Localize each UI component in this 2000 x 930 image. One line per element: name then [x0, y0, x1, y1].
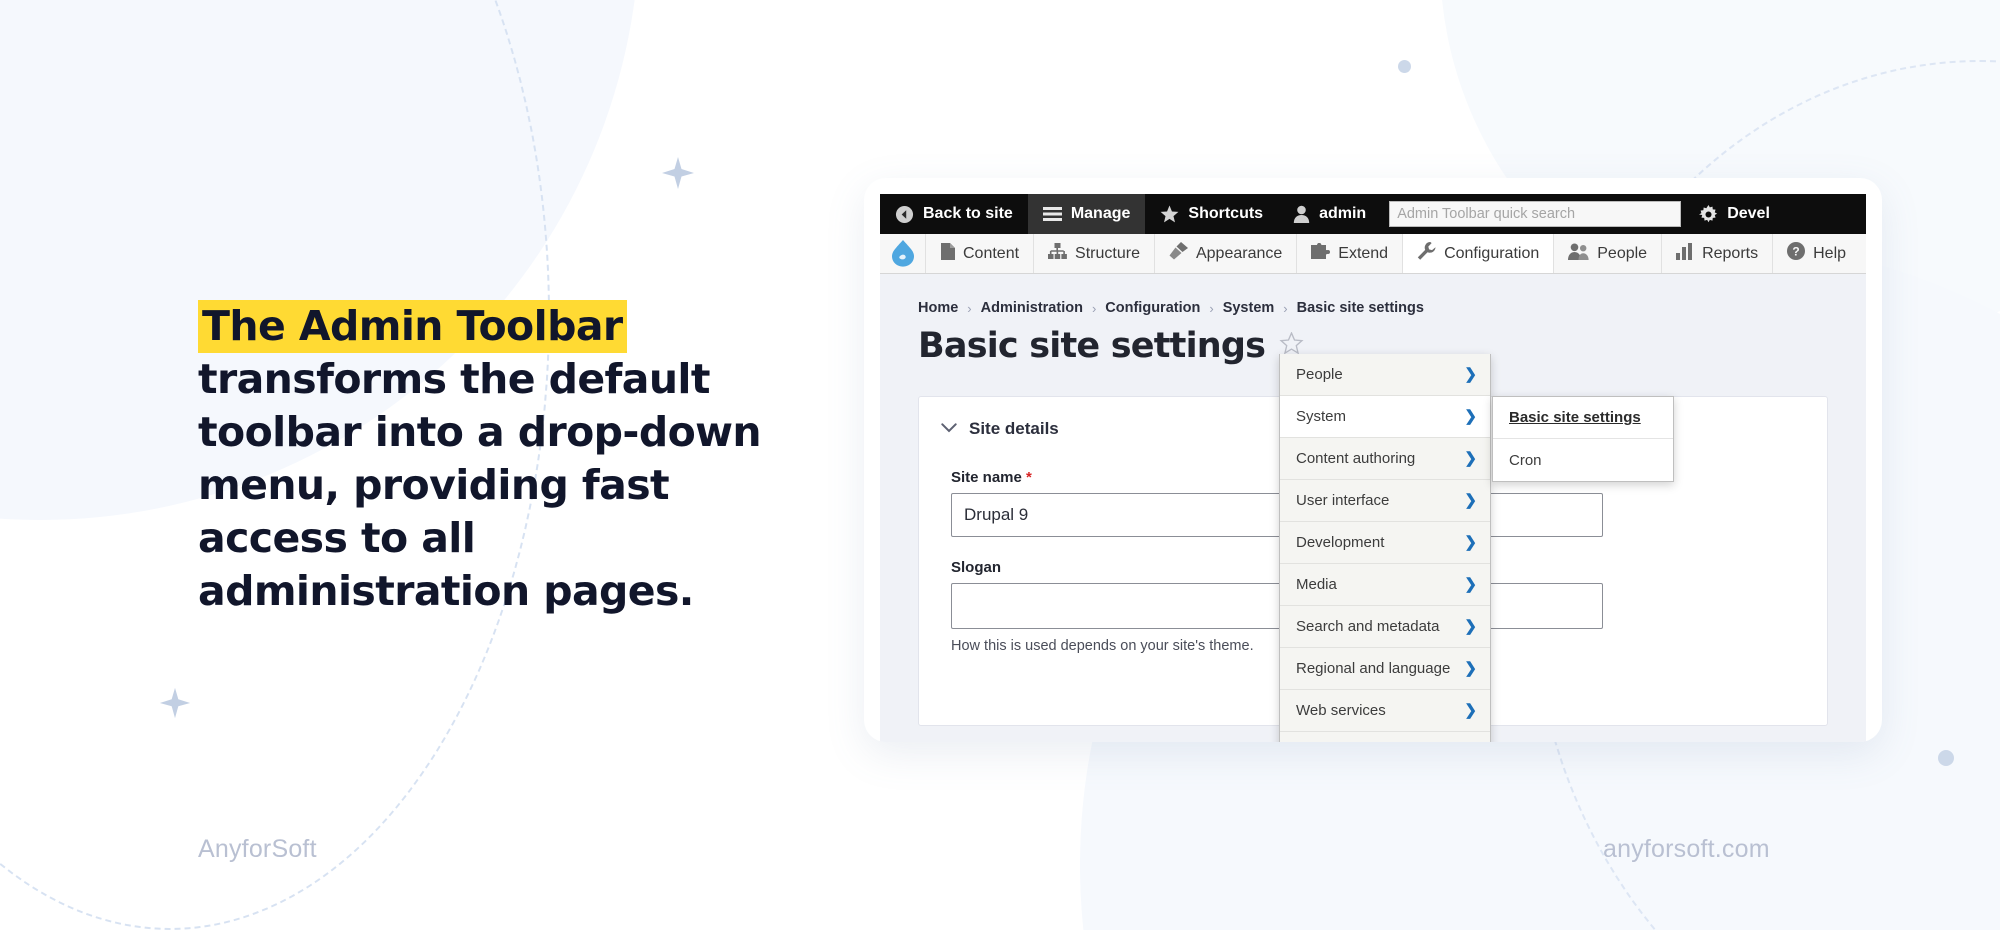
- dropdown-item-development[interactable]: Development ❯: [1280, 522, 1490, 564]
- decorative-dot-top: [1398, 60, 1411, 73]
- breadcrumb-item-basic-site-settings[interactable]: Basic site settings: [1297, 300, 1424, 316]
- brand-name: AnyforSoft: [198, 835, 317, 864]
- quick-search-container: [1381, 194, 1681, 234]
- sparkle-icon: [158, 686, 192, 720]
- menu-item-extend-label: Extend: [1338, 245, 1388, 263]
- back-arrow-icon: [895, 205, 914, 224]
- toolbar-devel[interactable]: Devel: [1681, 194, 1785, 234]
- appearance-brush-icon: [1169, 242, 1188, 265]
- chevron-right-icon: ❯: [1464, 409, 1477, 424]
- menu-item-structure-label: Structure: [1075, 245, 1140, 263]
- menu-item-configuration-label: Configuration: [1444, 245, 1539, 263]
- breadcrumb: Home › Administration › Configuration › …: [918, 300, 1828, 316]
- dropdown-item-web-services-label: Web services: [1296, 702, 1386, 719]
- dropdown-item-people[interactable]: People ❯: [1280, 354, 1490, 396]
- toolbar-spacer: [1785, 194, 1866, 234]
- extend-puzzle-icon: [1311, 243, 1330, 265]
- chevron-right-icon: ❯: [1464, 451, 1477, 466]
- reports-bars-icon: [1676, 243, 1694, 265]
- required-marker: *: [1026, 469, 1032, 486]
- toolbar-devel-label: Devel: [1727, 205, 1770, 223]
- dropdown-item-people-label: People: [1296, 366, 1343, 383]
- toolbar-shortcuts[interactable]: Shortcuts: [1145, 194, 1278, 234]
- menu-item-content[interactable]: Content: [926, 234, 1034, 273]
- page-title: Basic site settings: [918, 326, 1265, 366]
- site-details-legend: Site details: [969, 419, 1059, 439]
- dropdown-item-regional-and-language[interactable]: Regional and language ❯: [1280, 648, 1490, 690]
- submenu-item-cron-label: Cron: [1509, 452, 1542, 469]
- toolbar-manage[interactable]: Manage: [1028, 194, 1146, 234]
- dropdown-item-user-interface-label: User interface: [1296, 492, 1389, 509]
- menu-item-content-label: Content: [963, 245, 1019, 263]
- svg-text:?: ?: [1792, 244, 1799, 258]
- dropdown-item-media-label: Media: [1296, 576, 1337, 593]
- headline-highlight: The Admin Toolbar: [198, 300, 627, 353]
- submenu-item-cron[interactable]: Cron: [1493, 439, 1673, 481]
- sparkle-icon: [660, 155, 696, 191]
- dropdown-item-media[interactable]: Media ❯: [1280, 564, 1490, 606]
- content-page-icon: [940, 243, 955, 265]
- chevron-down-icon: [941, 419, 957, 439]
- breadcrumb-separator: ›: [967, 301, 971, 316]
- chevron-right-icon: ❯: [1464, 661, 1477, 676]
- breadcrumb-item-system[interactable]: System: [1223, 300, 1275, 316]
- chevron-right-icon: ❯: [1464, 619, 1477, 634]
- slogan-input[interactable]: [951, 583, 1603, 629]
- dropdown-item-system[interactable]: System ❯ Basic site settings Cron: [1280, 396, 1490, 438]
- menu-item-structure[interactable]: Structure: [1034, 234, 1155, 273]
- toolbar-back-to-site-label: Back to site: [923, 205, 1013, 223]
- toolbar-shortcuts-label: Shortcuts: [1188, 205, 1263, 223]
- toolbar-back-to-site[interactable]: Back to site: [880, 194, 1028, 234]
- breadcrumb-item-administration[interactable]: Administration: [981, 300, 1083, 316]
- chevron-right-icon: ❯: [1464, 493, 1477, 508]
- breadcrumb-item-configuration[interactable]: Configuration: [1105, 300, 1200, 316]
- site-name-label-text: Site name: [951, 469, 1022, 486]
- system-submenu: Basic site settings Cron: [1492, 396, 1674, 482]
- star-icon: [1160, 205, 1179, 223]
- user-icon: [1293, 205, 1310, 223]
- dropdown-item-content-authoring[interactable]: Content authoring ❯: [1280, 438, 1490, 480]
- dropdown-item-web-services[interactable]: Web services ❯: [1280, 690, 1490, 732]
- menu-item-reports-label: Reports: [1702, 245, 1758, 263]
- chevron-right-icon: ❯: [1464, 703, 1477, 718]
- breadcrumb-separator: ›: [1092, 301, 1096, 316]
- dropdown-item-search-and-metadata[interactable]: Search and metadata ❯: [1280, 606, 1490, 648]
- menu-item-extend[interactable]: Extend: [1297, 234, 1403, 273]
- structure-tree-icon: [1048, 243, 1067, 265]
- configuration-wrench-icon: [1417, 242, 1436, 265]
- page-headline: The Admin Toolbar transforms the default…: [198, 300, 818, 618]
- help-question-icon: ?: [1787, 242, 1805, 265]
- admin-toolbar-menu: Content Structure Appeara: [880, 234, 1866, 274]
- submenu-item-basic-site-settings[interactable]: Basic site settings: [1493, 397, 1673, 439]
- menu-item-appearance-label: Appearance: [1196, 245, 1282, 263]
- dropdown-item-content-authoring-label: Content authoring: [1296, 450, 1415, 467]
- dropdown-item-workflow[interactable]: Workflow ❯: [1280, 732, 1490, 742]
- configuration-dropdown-menu: People ❯ System ❯ Basic site settings Cr…: [1279, 354, 1491, 742]
- menu-item-people[interactable]: People: [1554, 234, 1662, 273]
- site-name-input[interactable]: [951, 493, 1603, 537]
- brand-website: anyforsoft.com: [1603, 835, 1770, 864]
- menu-item-people-label: People: [1597, 245, 1647, 263]
- drupal-admin-screen: Back to site Manage Shortcuts admin: [880, 194, 1866, 742]
- admin-toolbar-top: Back to site Manage Shortcuts admin: [880, 194, 1866, 234]
- breadcrumb-separator: ›: [1209, 301, 1213, 316]
- menu-item-reports[interactable]: Reports: [1662, 234, 1773, 273]
- chevron-right-icon: ❯: [1464, 367, 1477, 382]
- people-icon: [1568, 243, 1589, 265]
- menu-item-help[interactable]: ? Help: [1773, 234, 1860, 273]
- toolbar-user-admin[interactable]: admin: [1278, 194, 1381, 234]
- menu-item-appearance[interactable]: Appearance: [1155, 234, 1297, 273]
- promo-text-block: The Admin Toolbar transforms the default…: [198, 300, 818, 618]
- toolbar-user-label: admin: [1319, 205, 1366, 223]
- hamburger-icon: [1043, 206, 1062, 222]
- headline-rest: transforms the default toolbar into a dr…: [198, 355, 761, 615]
- decorative-dot-bottom: [1938, 750, 1954, 766]
- gear-icon: [1699, 205, 1718, 224]
- breadcrumb-separator: ›: [1283, 301, 1287, 316]
- menu-item-help-label: Help: [1813, 245, 1846, 263]
- dropdown-item-regional-and-language-label: Regional and language: [1296, 660, 1450, 677]
- admin-page-body: Home › Administration › Configuration › …: [880, 274, 1866, 742]
- breadcrumb-item-home[interactable]: Home: [918, 300, 958, 316]
- dropdown-item-system-label: System: [1296, 408, 1346, 425]
- dropdown-item-development-label: Development: [1296, 534, 1384, 551]
- menu-item-configuration[interactable]: Configuration: [1403, 234, 1554, 273]
- chevron-right-icon: ❯: [1464, 577, 1477, 592]
- dropdown-item-user-interface[interactable]: User interface ❯: [1280, 480, 1490, 522]
- slogan-label-text: Slogan: [951, 559, 1001, 576]
- drupal-logo-icon[interactable]: [880, 234, 926, 273]
- toolbar-manage-label: Manage: [1071, 205, 1131, 223]
- submenu-item-basic-site-settings-label: Basic site settings: [1509, 409, 1641, 426]
- chevron-right-icon: ❯: [1464, 535, 1477, 550]
- screenshot-card: Back to site Manage Shortcuts admin: [864, 178, 1882, 742]
- dropdown-item-search-and-metadata-label: Search and metadata: [1296, 618, 1439, 635]
- search-input[interactable]: [1389, 201, 1681, 227]
